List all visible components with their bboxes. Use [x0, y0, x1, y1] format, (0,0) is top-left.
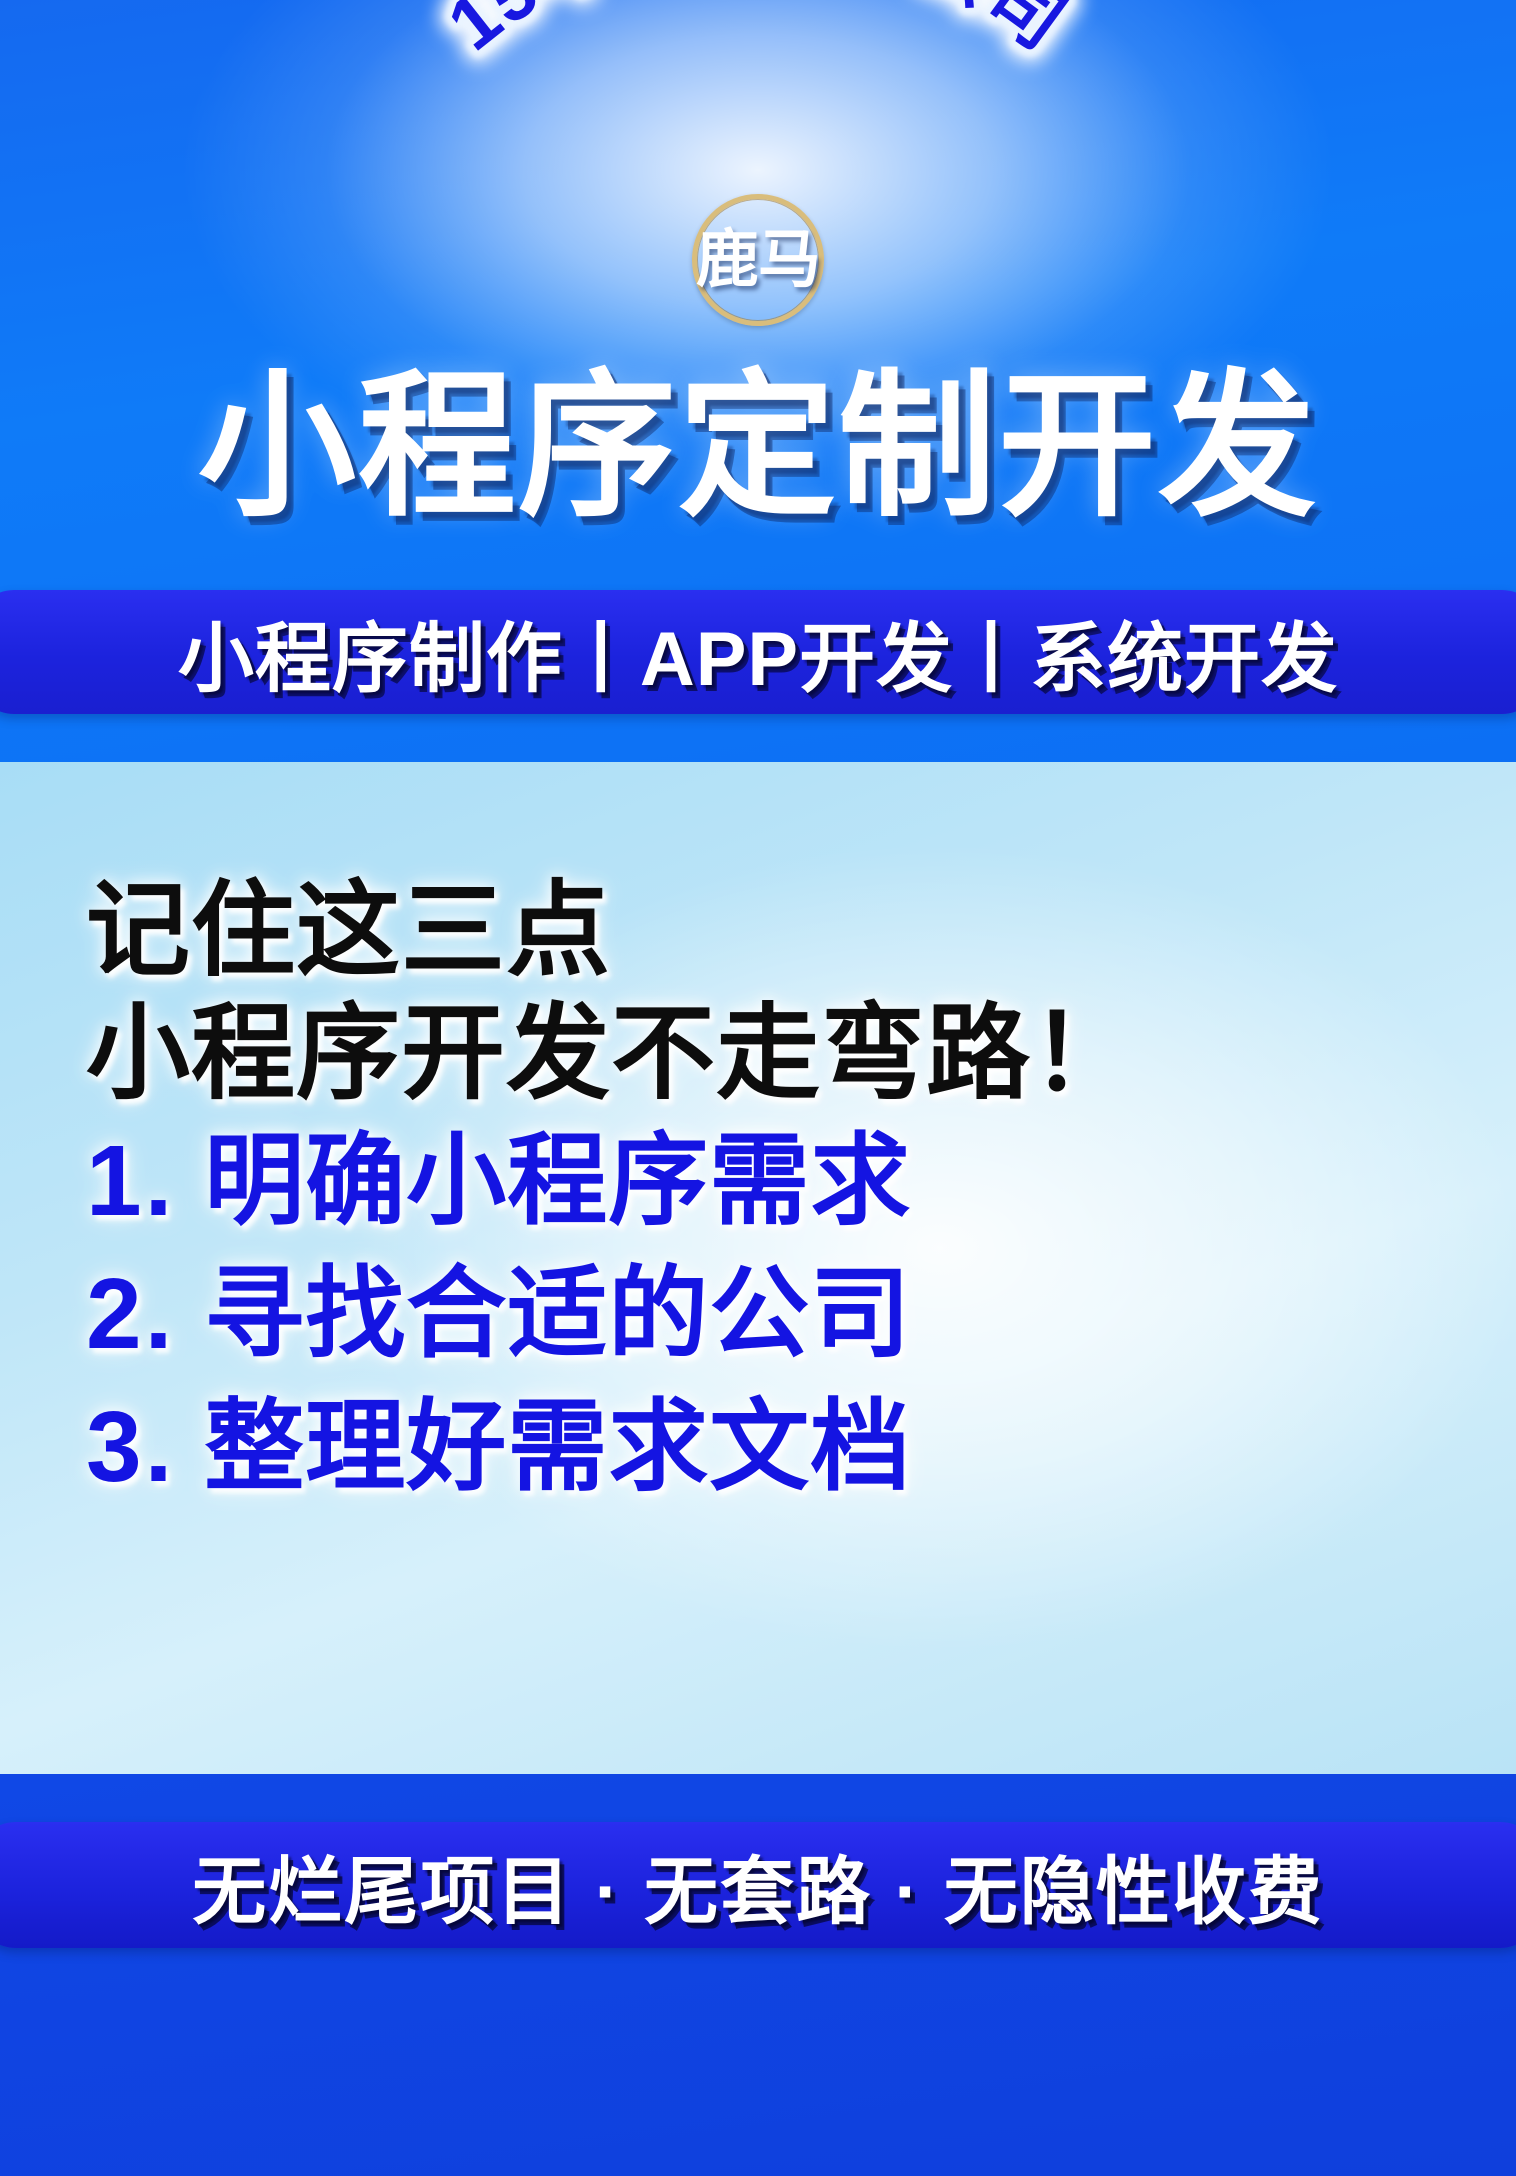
headline-line-1: 记住这三点	[86, 870, 1446, 993]
list-item: 2. 寻找合适的公司	[86, 1248, 1446, 1381]
poster-canvas: 15年软件开发公司 15年软件开发公司 15年软件开发公司 鹿马 小程序定制开发…	[0, 0, 1516, 2176]
promise-bar-label: 无烂尾项目 · 无套路 · 无隐性收费	[192, 1832, 1324, 1939]
promise-bar: 无烂尾项目 · 无套路 · 无隐性收费	[0, 1822, 1516, 1948]
list-item: 3. 整理好需求文档	[86, 1381, 1446, 1514]
headline-line-2: 小程序开发不走弯路！	[86, 993, 1446, 1116]
service-bar-label: 小程序制作丨APP开发丨系统开发	[178, 597, 1338, 707]
brand-logo-text: 鹿马	[696, 229, 820, 292]
service-bar: 小程序制作丨APP开发丨系统开发	[0, 590, 1516, 714]
list-item-number: 2.	[86, 1258, 175, 1370]
arched-slogan-text: 15年软件开发公司	[433, 0, 1082, 66]
brand-logo-badge: 鹿马	[692, 194, 824, 326]
list-item: 1. 明确小程序需求	[86, 1115, 1446, 1248]
list-item-label: 整理好需求文档	[204, 1391, 911, 1503]
body-copy: 记住这三点 小程序开发不走弯路！ 1. 明确小程序需求 2. 寻找合适的公司 3…	[86, 870, 1446, 1514]
list-item-label: 明确小程序需求	[204, 1125, 911, 1237]
list-item-label: 寻找合适的公司	[204, 1258, 911, 1370]
list-item-number: 3.	[86, 1391, 175, 1503]
list-item-number: 1.	[86, 1125, 175, 1237]
page-title: 小程序定制开发	[0, 368, 1516, 526]
